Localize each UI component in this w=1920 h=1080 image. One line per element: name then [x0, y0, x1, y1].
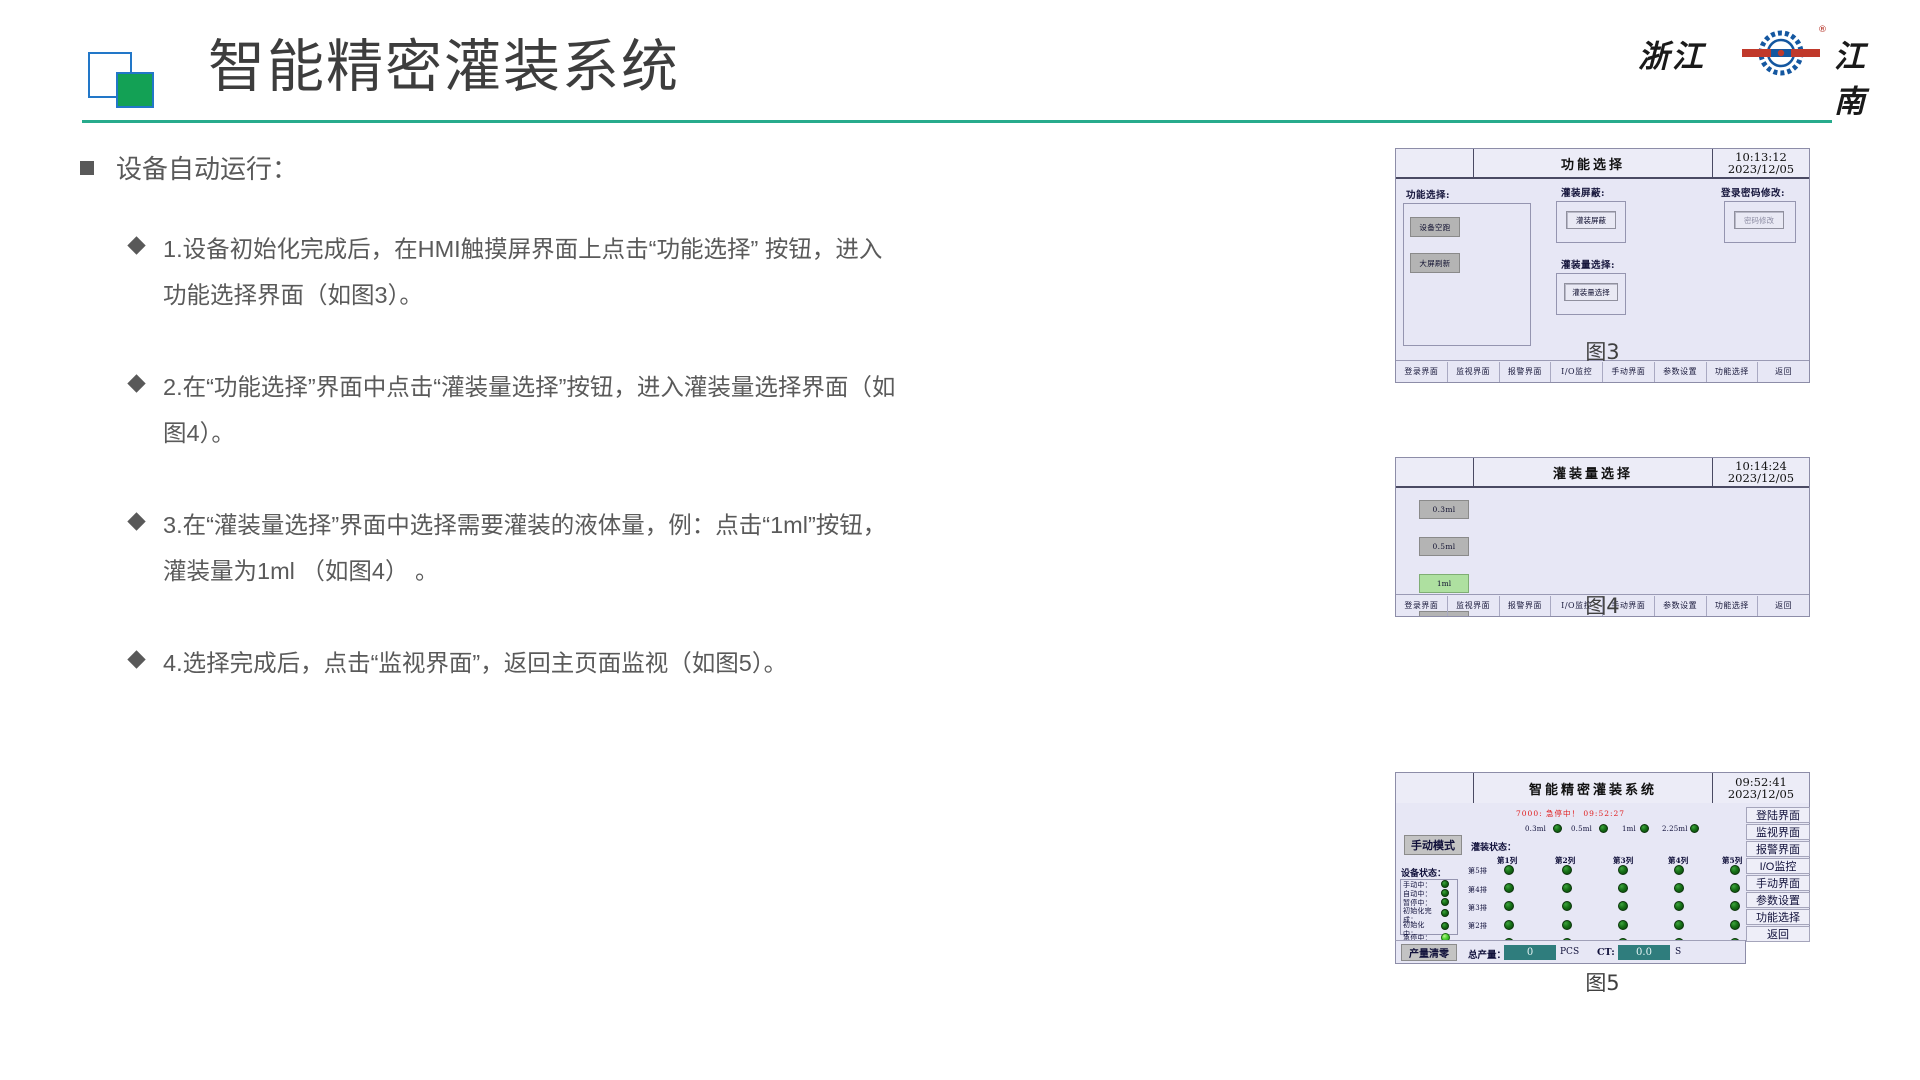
gear-icon — [1738, 27, 1824, 79]
mode-button-manual[interactable]: 手动模式 — [1404, 835, 1462, 855]
fill-shield-button[interactable]: 灌装屏蔽 — [1566, 211, 1616, 229]
volume-select-button[interactable]: 灌装量选择 — [1564, 283, 1618, 301]
hmi-titlebar-left-cell — [1396, 458, 1474, 486]
hmi-titlebar: 灌装量选择 10:14:24 2023/12/05 — [1396, 458, 1809, 488]
total-output-value: 0 — [1504, 945, 1556, 960]
fill-lamp-r3-c4 — [1674, 901, 1684, 911]
fill-lamp-r2-c3 — [1618, 883, 1628, 893]
brand-logo: 浙江 ® 江南 — [1638, 25, 1898, 81]
hmi-date: 2023/12/05 — [1728, 163, 1794, 175]
hmi-clock: 09:52:41 2023/12/05 — [1713, 773, 1809, 803]
fill-lamp-r1-c1 — [1504, 865, 1514, 875]
label-function-select: 功能选择: — [1406, 187, 1450, 201]
hmi-right-nav[interactable]: 登陆界面 监视界面 报警界面 I/O监控 手动界面 参数设置 功能选择 返回 — [1746, 803, 1810, 941]
bullet-item-2: 2.在“功能选择”界面中点击“灌装量选择”按钮，进入灌装量选择界面（如图4）。 — [130, 364, 1080, 456]
lamp-label-0.5ml: 0.5ml — [1571, 825, 1592, 834]
fill-lamp-r3-c1 — [1504, 901, 1514, 911]
diamond-bullet-icon — [127, 374, 145, 392]
dry-run-button[interactable]: 设备空跑 — [1410, 217, 1460, 237]
row-header-4: 第4排 — [1468, 886, 1487, 895]
status-label-manual: 手动中： — [1403, 881, 1432, 890]
volume-option-0.5ml[interactable]: 0.5ml — [1419, 537, 1469, 556]
fill-lamp-r1-c5 — [1730, 865, 1740, 875]
brand-text-right: 江南 — [1834, 31, 1898, 121]
label-device-status: 设备状态： — [1401, 866, 1446, 879]
logo-solid-square — [116, 72, 154, 108]
fill-lamp-r2-c4 — [1674, 883, 1684, 893]
label-total-output: 总产量： — [1468, 947, 1506, 961]
diamond-bullet-icon — [127, 650, 145, 668]
hmi-titlebar: 智能精密灌装系统 09:52:41 2023/12/05 — [1396, 773, 1809, 805]
status-lamp-auto — [1441, 889, 1449, 897]
brand-text-left: 浙江 — [1638, 31, 1706, 76]
hmi-titlebar-left-cell — [1396, 149, 1474, 177]
fill-lamp-r4-c1 — [1504, 920, 1514, 930]
fill-lamp-r1-c2 — [1562, 865, 1572, 875]
production-reset-button[interactable]: 产量清零 — [1401, 944, 1457, 961]
hmi-titlebar: 功能选择 10:13:12 2023/12/05 — [1396, 149, 1809, 179]
right-nav-function[interactable]: 功能选择 — [1746, 909, 1810, 925]
bullet-item-4-text: 4.选择完成后，点击“监视界面”，返回主页面监视（如图5）。 — [163, 640, 787, 686]
right-nav-manual[interactable]: 手动界面 — [1746, 875, 1810, 891]
bullet-item-2-text: 2.在“功能选择”界面中点击“灌装量选择”按钮，进入灌装量选择界面（如图4）。 — [163, 364, 903, 456]
fill-lamp-r2-c1 — [1504, 883, 1514, 893]
label-fill-status: 灌装状态： — [1471, 840, 1516, 853]
hmi-clock: 10:14:24 2023/12/05 — [1713, 458, 1809, 486]
lamp-label-1ml: 1ml — [1622, 825, 1636, 834]
fill-lamp-r3-c2 — [1562, 901, 1572, 911]
fill-lamp-r3-c5 — [1730, 901, 1740, 911]
right-nav-back[interactable]: 返回 — [1746, 926, 1810, 942]
password-change-button[interactable]: 密码修改 — [1734, 211, 1784, 229]
bullet-item-1: 1.设备初始化完成后，在HMI触摸屏界面上点击“功能选择” 按钮，进入功能选择界… — [130, 226, 1080, 318]
hmi-clock: 10:13:12 2023/12/05 — [1713, 149, 1809, 177]
fill-lamp-r4-c5 — [1730, 920, 1740, 930]
title-divider — [82, 120, 1832, 123]
right-nav-login[interactable]: 登陆界面 — [1746, 807, 1810, 823]
label-fill-shield: 灌装屏蔽: — [1561, 185, 1605, 199]
right-nav-alarm[interactable]: 报警界面 — [1746, 841, 1810, 857]
bullet-item-4: 4.选择完成后，点击“监视界面”，返回主页面监视（如图5）。 — [130, 640, 1080, 686]
lamp-0.5ml — [1599, 824, 1608, 833]
ct-value: 0.0 — [1618, 945, 1670, 960]
unit-pcs: PCS — [1560, 947, 1579, 957]
status-label-auto: 自动中： — [1403, 890, 1432, 899]
right-nav-monitor[interactable]: 监视界面 — [1746, 824, 1810, 840]
bullet-level1: 设备自动运行： — [80, 150, 1080, 188]
lamp-2.25ml — [1690, 824, 1699, 833]
unit-s: S — [1675, 947, 1681, 957]
fill-lamp-r1-c3 — [1618, 865, 1628, 875]
page-title: 智能精密灌装系统 — [208, 32, 680, 102]
column-header-5: 第5列 — [1722, 855, 1742, 866]
hmi-date: 2023/12/05 — [1728, 788, 1794, 800]
row-header-5: 第5排 — [1468, 867, 1487, 876]
registered-mark: ® — [1818, 25, 1827, 35]
figure-3-caption: 图3 — [1395, 336, 1810, 366]
bullet-level1-text: 设备自动运行： — [116, 150, 298, 188]
bullet-item-1-text: 1.设备初始化完成后，在HMI触摸屏界面上点击“功能选择” 按钮，进入功能选择界… — [163, 226, 903, 318]
hmi-title: 功能选择 — [1474, 149, 1713, 177]
lamp-0.3ml — [1553, 824, 1562, 833]
square-bullet-icon — [80, 161, 94, 175]
row-header-2: 第2排 — [1468, 922, 1487, 931]
right-nav-io[interactable]: I/O监控 — [1746, 858, 1810, 874]
row-header-3: 第3排 — [1468, 904, 1487, 913]
hmi-date: 2023/12/05 — [1728, 472, 1794, 484]
volume-option-0.3ml[interactable]: 0.3ml — [1419, 500, 1469, 519]
bullet-item-3: 3.在“灌装量选择”界面中选择需要灌装的液体量，例：点击“1ml”按钮，灌装量为… — [130, 502, 1080, 594]
diamond-bullet-icon — [127, 236, 145, 254]
fill-lamp-r4-c2 — [1562, 920, 1572, 930]
fill-lamp-r4-c4 — [1674, 920, 1684, 930]
status-lamp-initializing — [1441, 922, 1449, 930]
label-volume-select: 灌装量选择: — [1561, 257, 1615, 271]
label-password-change: 登录密码修改: — [1721, 185, 1785, 199]
fill-lamp-r4-c3 — [1618, 920, 1628, 930]
figure-4-caption: 图4 — [1395, 590, 1810, 620]
diamond-bullet-icon — [127, 512, 145, 530]
fill-lamp-r2-c5 — [1730, 883, 1740, 893]
page-header: 智能精密灌装系统 浙江 ® 江南 — [0, 0, 1920, 130]
fill-lamp-r1-c4 — [1674, 865, 1684, 875]
production-bar: 产量清零 总产量： 0 PCS CT: 0.0 S — [1395, 940, 1746, 964]
hmi-title: 灌装量选择 — [1474, 458, 1713, 486]
logo-mark — [88, 52, 154, 100]
status-lamp-pause — [1441, 898, 1449, 906]
right-nav-params[interactable]: 参数设置 — [1746, 892, 1810, 908]
status-lamp-manual — [1441, 880, 1449, 888]
fill-lamp-r3-c3 — [1618, 901, 1628, 911]
lamp-label-2.25ml: 2.25ml — [1662, 825, 1688, 834]
bullet-item-3-text: 3.在“灌装量选择”界面中选择需要灌装的液体量，例：点击“1ml”按钮，灌装量为… — [163, 502, 903, 594]
hmi-titlebar-left-cell — [1396, 773, 1474, 803]
fill-lamp-r2-c2 — [1562, 883, 1572, 893]
figure-5-caption: 图5 — [1395, 967, 1810, 997]
content-bullets: 设备自动运行： 1.设备初始化完成后，在HMI触摸屏界面上点击“功能选择” 按钮… — [80, 150, 1080, 732]
hmi-title: 智能精密灌装系统 — [1474, 773, 1713, 803]
alarm-banner: 7000: 急停中！ 09:52:27 — [1516, 808, 1625, 819]
label-ct: CT: — [1597, 947, 1615, 958]
screen-refresh-button[interactable]: 大屏刷新 — [1410, 253, 1460, 273]
status-lamp-init-done — [1441, 909, 1449, 917]
lamp-label-0.3ml: 0.3ml — [1525, 825, 1546, 834]
lamp-1ml — [1640, 824, 1649, 833]
